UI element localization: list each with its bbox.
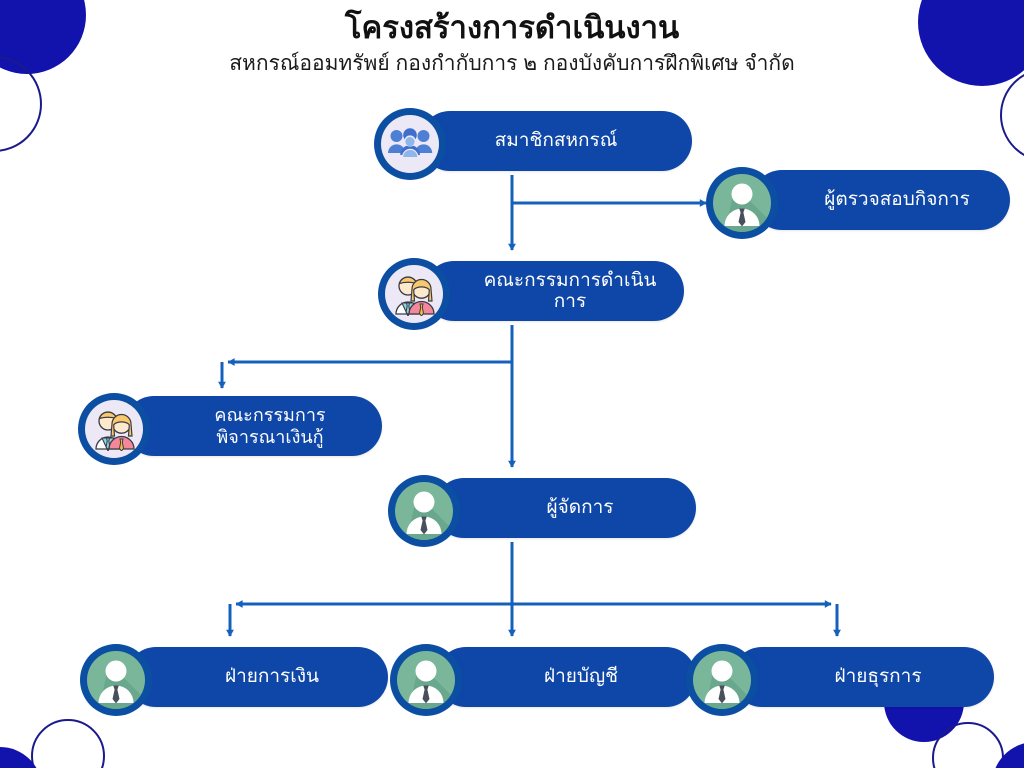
node-auditor-avatar xyxy=(706,167,778,239)
node-accounting-label: ฝ่ายบัญชี xyxy=(436,666,696,687)
node-loan-committee-bar[interactable]: คณะกรรมการ พิจารณาเงินกู้ xyxy=(124,396,382,456)
node-finance-bar[interactable]: ฝ่ายการเงิน xyxy=(126,647,388,707)
node-members-label: สมาชิกสหกรณ์ xyxy=(420,130,692,151)
node-board-avatar xyxy=(378,258,450,330)
node-members-avatar xyxy=(374,108,446,180)
node-auditor-label: ผู้ตรวจสอบกิจการ xyxy=(752,189,1010,210)
node-admin-avatar xyxy=(686,644,758,716)
node-accounting-bar[interactable]: ฝ่ายบัญชี xyxy=(436,647,696,707)
node-finance-avatar xyxy=(80,644,152,716)
node-members-bar[interactable]: สมาชิกสหกรณ์ xyxy=(420,111,692,171)
person-suit-icon xyxy=(693,651,751,709)
node-admin-bar[interactable]: ฝ่ายธุรการ xyxy=(732,647,994,707)
node-board-bar[interactable]: คณะกรรมการดำเนินการ xyxy=(424,261,684,321)
node-manager-avatar xyxy=(388,475,460,547)
node-board-label: คณะกรรมการดำเนินการ xyxy=(424,270,684,313)
node-accounting-avatar xyxy=(390,644,462,716)
person-suit-icon xyxy=(395,482,453,540)
two-people-icon xyxy=(85,400,143,458)
person-suit-icon xyxy=(87,651,145,709)
group-of-three-people-icon xyxy=(381,115,439,173)
org-chart-canvas: โครงสร้างการดำเนินงาน สหกรณ์ออมทรัพย์ กอ… xyxy=(0,0,1024,768)
person-suit-icon xyxy=(397,651,455,709)
node-manager-bar[interactable]: ผู้จัดการ xyxy=(434,478,696,538)
node-loan-committee-label: คณะกรรมการ พิจารณาเงินกู้ xyxy=(124,404,382,449)
node-loan-committee-avatar xyxy=(78,393,150,465)
node-auditor-bar[interactable]: ผู้ตรวจสอบกิจการ xyxy=(752,170,1010,230)
node-manager-label: ผู้จัดการ xyxy=(434,497,696,518)
two-people-icon xyxy=(385,265,443,323)
person-suit-icon xyxy=(713,174,771,232)
node-admin-label: ฝ่ายธุรการ xyxy=(732,666,994,687)
node-finance-label: ฝ่ายการเงิน xyxy=(126,666,388,687)
